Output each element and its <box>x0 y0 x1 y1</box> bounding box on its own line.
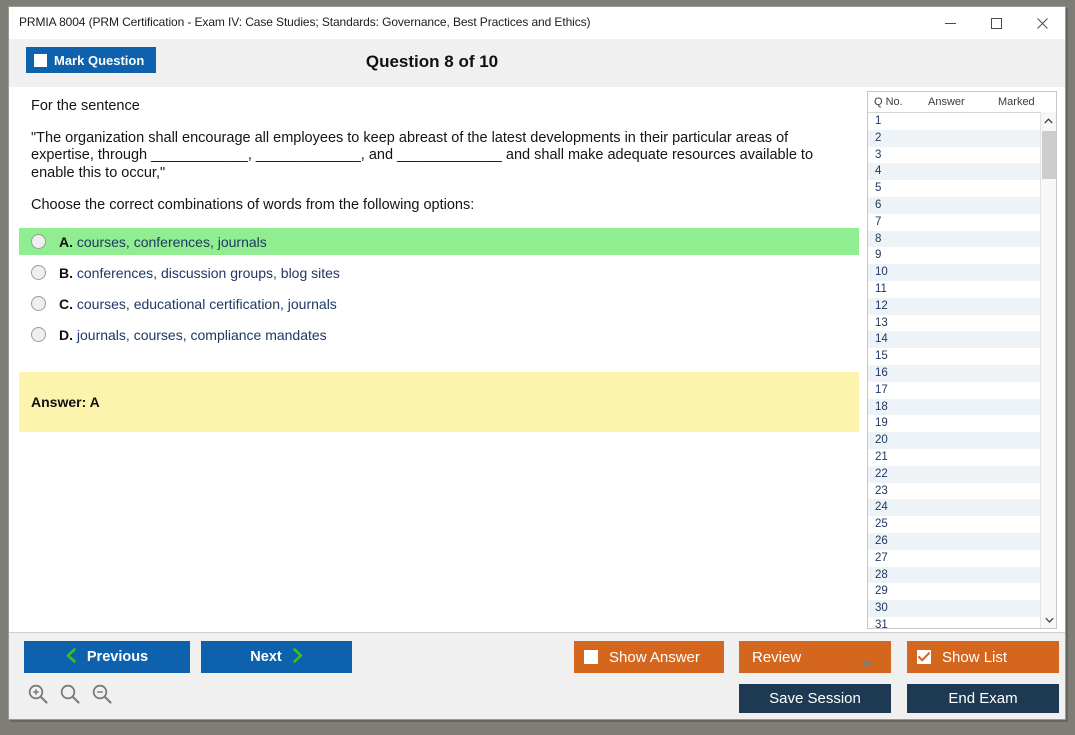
question-list-row[interactable]: 12 <box>868 298 1040 315</box>
next-button[interactable]: Next <box>201 641 352 673</box>
question-list-row-qno: 10 <box>875 266 888 278</box>
question-list-row[interactable]: 11 <box>868 281 1040 298</box>
question-instruction: Choose the correct combinations of words… <box>31 197 847 215</box>
maximize-button[interactable] <box>973 7 1019 39</box>
question-list-row-qno: 30 <box>875 602 888 614</box>
question-list-row[interactable]: 29 <box>868 583 1040 600</box>
question-list-row[interactable]: 26 <box>868 533 1040 550</box>
answer-option-d[interactable]: D. journals, courses, compliance mandate… <box>19 321 859 348</box>
radio-button-icon[interactable] <box>31 265 46 280</box>
chevron-left-icon <box>66 648 77 667</box>
question-list-row-qno: 12 <box>875 300 888 312</box>
question-list-row[interactable]: 19 <box>868 415 1040 432</box>
answer-option-text: journals, courses, compliance mandates <box>77 327 327 343</box>
save-session-label: Save Session <box>769 690 861 707</box>
question-list-row-qno: 2 <box>875 132 881 144</box>
previous-button[interactable]: Previous <box>24 641 190 673</box>
answer-option-text: conferences, discussion groups, blog sit… <box>77 265 340 281</box>
question-list-row[interactable]: 16 <box>868 365 1040 382</box>
question-list-row[interactable]: 2 <box>868 130 1040 147</box>
answer-option-a[interactable]: A. courses, conferences, journals <box>19 228 859 255</box>
question-list-row-qno: 16 <box>875 367 888 379</box>
save-session-button[interactable]: Save Session <box>739 684 891 713</box>
question-text: For the sentence "The organization shall… <box>19 88 859 214</box>
minimize-button[interactable] <box>927 7 973 39</box>
zoom-in-icon[interactable] <box>27 683 49 710</box>
maximize-icon <box>991 18 1002 29</box>
question-list-row-qno: 15 <box>875 350 888 362</box>
question-list-row[interactable]: 5 <box>868 180 1040 197</box>
bottom-toolbar: Previous Next Show Answer Review <box>9 632 1065 719</box>
answer-option-text: courses, educational certification, jour… <box>77 296 337 312</box>
question-list-row-qno: 20 <box>875 434 888 446</box>
question-list-scrollbar[interactable] <box>1040 112 1056 628</box>
question-stem-line-2: expertise, through ____________, _______… <box>31 147 813 163</box>
window-controls <box>927 7 1065 39</box>
screenshot-root: PRMIA 8004 (PRM Certification - Exam IV:… <box>0 0 1075 735</box>
show-answer-checkbox-icon <box>584 650 598 664</box>
question-list-row[interactable]: 20 <box>868 432 1040 449</box>
show-list-button[interactable]: Show List <box>907 641 1059 673</box>
chevron-down-icon <box>1045 615 1054 625</box>
answer-text: Answer: A <box>31 394 100 410</box>
question-list-row[interactable]: 27 <box>868 550 1040 567</box>
question-list-row-qno: 24 <box>875 501 888 513</box>
question-list-row-qno: 22 <box>875 468 888 480</box>
column-header-marked: Marked <box>998 96 1035 108</box>
previous-label: Previous <box>87 649 148 665</box>
question-list-row[interactable]: 7 <box>868 214 1040 231</box>
question-list-row[interactable]: 6 <box>868 197 1040 214</box>
question-list-row[interactable]: 31 <box>868 617 1040 629</box>
show-answer-button[interactable]: Show Answer <box>574 641 724 673</box>
answer-option-letter: D. <box>59 327 73 343</box>
question-list-row-qno: 11 <box>875 283 887 295</box>
question-list-row[interactable]: 9 <box>868 247 1040 264</box>
scroll-down-arrow[interactable] <box>1041 611 1057 628</box>
question-list-panel: Q No. Answer Marked 12345678910111213141… <box>867 91 1057 629</box>
question-stem-line-3: enable this to occur," <box>31 165 165 181</box>
answer-option-letter: A. <box>59 234 73 250</box>
chevron-right-icon <box>292 648 303 667</box>
chevron-up-icon <box>1044 116 1053 126</box>
radio-button-icon[interactable] <box>31 296 46 311</box>
exam-window: PRMIA 8004 (PRM Certification - Exam IV:… <box>8 6 1066 720</box>
question-list-row-qno: 28 <box>875 569 888 581</box>
answer-option-text: courses, conferences, journals <box>77 234 267 250</box>
question-list-row-qno: 17 <box>875 384 888 396</box>
question-list-row[interactable]: 8 <box>868 231 1040 248</box>
question-list-row[interactable]: 15 <box>868 348 1040 365</box>
end-exam-button[interactable]: End Exam <box>907 684 1059 713</box>
question-list-row[interactable]: 21 <box>868 449 1040 466</box>
question-list-row-qno: 1 <box>875 115 881 127</box>
column-header-qno: Q No. <box>874 96 903 108</box>
answer-option-b[interactable]: B. conferences, discussion groups, blog … <box>19 259 859 286</box>
column-header-answer: Answer <box>928 96 965 108</box>
exam-header-bar: Mark Question Question 8 of 10 <box>9 39 1065 87</box>
question-list-row-qno: 18 <box>875 401 888 413</box>
question-list-row-qno: 8 <box>875 233 881 245</box>
question-list-row-qno: 29 <box>875 585 888 597</box>
question-stem: "The organization shall encourage all em… <box>31 130 847 183</box>
scrollbar-thumb[interactable] <box>1042 131 1056 179</box>
question-list-row-qno: 26 <box>875 535 888 547</box>
question-list-row[interactable]: 14 <box>868 331 1040 348</box>
question-list-row-qno: 4 <box>875 165 881 177</box>
question-list-row-qno: 27 <box>875 552 888 564</box>
question-content-panel: For the sentence "The organization shall… <box>19 88 859 628</box>
answer-options-list: A. courses, conferences, journalsB. conf… <box>19 228 859 348</box>
radio-button-icon[interactable] <box>31 327 46 342</box>
show-list-checkbox-icon <box>917 650 931 664</box>
question-list-row-qno: 21 <box>875 451 888 463</box>
end-exam-label: End Exam <box>948 690 1017 707</box>
caret-up-icon <box>861 653 873 670</box>
show-list-label: Show List <box>942 649 1007 666</box>
question-list-row[interactable]: 1 <box>868 113 1040 130</box>
question-list-row[interactable]: 25 <box>868 516 1040 533</box>
question-list-rows[interactable]: 1234567891011121314151617181920212223242… <box>868 113 1040 629</box>
question-list-row[interactable]: 30 <box>868 600 1040 617</box>
zoom-controls <box>27 683 113 710</box>
answer-option-label: C. courses, educational certification, j… <box>59 296 337 312</box>
minimize-icon <box>945 18 956 29</box>
question-list-row-qno: 9 <box>875 249 881 261</box>
review-label: Review <box>752 649 801 666</box>
answer-option-letter: B. <box>59 265 73 281</box>
page-title: Question 8 of 10 <box>9 52 1066 72</box>
question-list-row-qno: 7 <box>875 216 881 228</box>
question-list-row-qno: 5 <box>875 182 881 194</box>
question-list-row[interactable]: 22 <box>868 466 1040 483</box>
title-bar: PRMIA 8004 (PRM Certification - Exam IV:… <box>9 7 1065 39</box>
question-list-row-qno: 23 <box>875 485 888 497</box>
answer-option-label: D. journals, courses, compliance mandate… <box>59 327 327 343</box>
radio-button-icon[interactable] <box>31 234 46 249</box>
question-intro: For the sentence <box>31 98 847 116</box>
question-list-row-qno: 19 <box>875 417 888 429</box>
next-label: Next <box>250 649 281 665</box>
question-list-row[interactable]: 4 <box>868 163 1040 180</box>
close-icon <box>1037 18 1048 29</box>
question-list-row-qno: 3 <box>875 149 881 161</box>
question-list-row-qno: 25 <box>875 518 888 530</box>
show-answer-label: Show Answer <box>609 649 700 666</box>
question-list-row[interactable]: 3 <box>868 147 1040 164</box>
question-list-row[interactable]: 24 <box>868 499 1040 516</box>
question-list-row-qno: 31 <box>875 619 888 629</box>
zoom-out-icon[interactable] <box>91 683 113 710</box>
review-dropdown-button[interactable]: Review <box>739 641 891 673</box>
zoom-reset-icon[interactable] <box>59 683 81 710</box>
question-list-row[interactable]: 13 <box>868 315 1040 332</box>
question-list-row-qno: 6 <box>875 199 881 211</box>
question-list-header: Q No. Answer Marked <box>868 92 1056 113</box>
answer-reveal-box: Answer: A <box>19 372 859 432</box>
answer-option-label: A. courses, conferences, journals <box>59 234 267 250</box>
question-list-row[interactable]: 10 <box>868 264 1040 281</box>
window-title: PRMIA 8004 (PRM Certification - Exam IV:… <box>19 15 590 29</box>
answer-option-label: B. conferences, discussion groups, blog … <box>59 265 340 281</box>
answer-option-letter: C. <box>59 296 73 312</box>
question-list-row[interactable]: 18 <box>868 399 1040 416</box>
scroll-up-arrow[interactable] <box>1041 112 1056 129</box>
question-list-row[interactable]: 17 <box>868 382 1040 399</box>
question-list-row-qno: 14 <box>875 333 888 345</box>
question-stem-line-1: "The organization shall encourage all em… <box>31 130 788 146</box>
answer-option-c[interactable]: C. courses, educational certification, j… <box>19 290 859 317</box>
question-list-row[interactable]: 23 <box>868 483 1040 500</box>
question-list-row-qno: 13 <box>875 317 888 329</box>
close-button[interactable] <box>1019 7 1065 39</box>
question-list-row[interactable]: 28 <box>868 567 1040 584</box>
